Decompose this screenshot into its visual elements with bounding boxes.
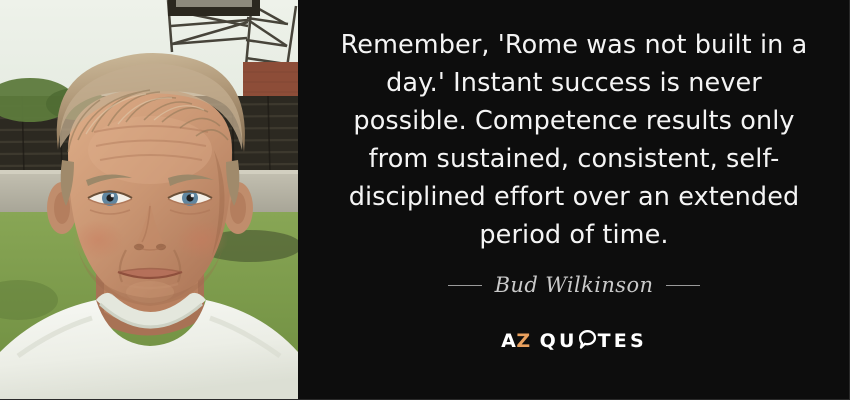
logo-text-qu: QU	[540, 332, 578, 351]
logo-letter-z: Z	[516, 332, 530, 351]
author-photo	[0, 0, 298, 400]
author-portrait-image	[0, 0, 298, 400]
attribution: Bud Wilkinson	[298, 273, 850, 297]
az-quotes-logo[interactable]: AZ QU TES	[501, 330, 647, 353]
speech-bubble-icon	[579, 330, 596, 353]
author-name[interactable]: Bud Wilkinson	[495, 273, 654, 297]
quote-card: Remember, 'Rome was not built in a day.'…	[0, 0, 850, 400]
quote-text: Remember, 'Rome was not built in a day.'…	[334, 26, 814, 254]
attribution-rule-right	[666, 285, 700, 286]
logo-letter-a: A	[501, 332, 516, 351]
logo-text-tes: TES	[598, 332, 647, 351]
quote-panel: Remember, 'Rome was not built in a day.'…	[298, 0, 850, 400]
attribution-rule-left	[448, 285, 482, 286]
